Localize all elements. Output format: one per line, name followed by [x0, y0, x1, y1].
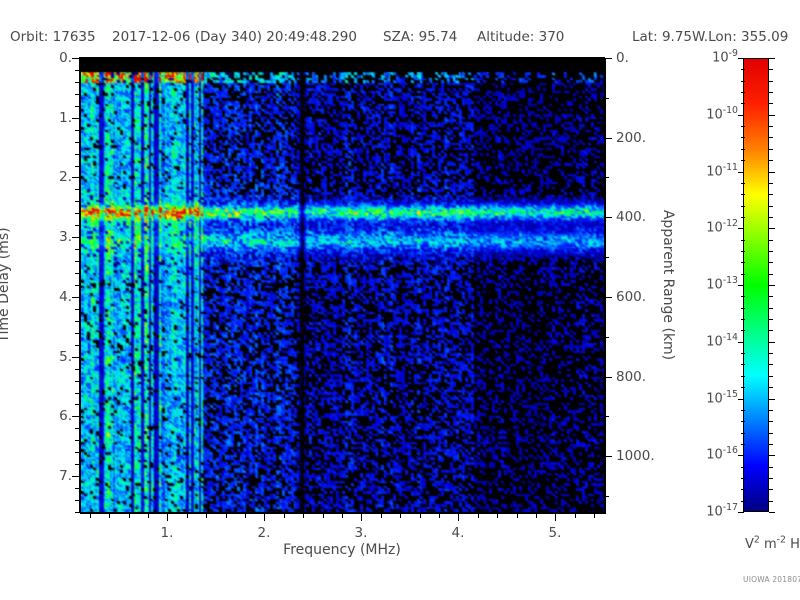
x-major-tick-3: [458, 513, 459, 521]
colorbar-tick-exponent-3: -12: [723, 218, 738, 229]
colorbar-minor-tick-17-1: [769, 251, 773, 252]
y-minor-tick-24: [75, 345, 80, 346]
y-minor-tick-34: [75, 464, 80, 465]
y-major-tick-4: [72, 297, 80, 298]
header-field-value-4: 9.75: [662, 29, 692, 45]
y-major-tick-6: [72, 416, 80, 417]
x-major-tick-2: [361, 513, 362, 521]
y2-minor-tick-1: [604, 98, 609, 99]
watermark-label: UIOWA 20180701: [743, 575, 800, 584]
colorbar-minor-tick-28-1: [769, 376, 773, 377]
x-major-tick-1: [264, 513, 265, 521]
header-field-3: Altitude: 370: [477, 29, 564, 45]
y2-major-tick-3: [604, 297, 612, 298]
y-tick-label-0: 0.: [20, 50, 72, 66]
y2-major-tick-1: [604, 138, 612, 139]
colorbar-tick-label-6: 10-15: [706, 392, 738, 407]
y-major-tick-5: [72, 357, 80, 358]
y-minor-tick-36: [75, 488, 80, 489]
y-minor-tick-27: [75, 381, 80, 382]
header-field-label-0: Orbit:: [10, 29, 48, 45]
x-tick-label-2: 3.: [355, 525, 368, 541]
y-major-tick-7: [72, 476, 80, 477]
colorbar-minor-tick-19-1: [769, 274, 773, 275]
colorbar-minor-tick-27-0: [741, 364, 745, 365]
colorbar-tick-exponent-7: -16: [723, 445, 738, 456]
colorbar-major-tick-0-0: [738, 58, 744, 59]
colorbar-minor-tick-38-0: [741, 489, 745, 490]
y-minor-tick-18: [75, 273, 80, 274]
colorbar-minor-tick-37-0: [741, 478, 745, 479]
colorbar-minor-tick-2-0: [741, 81, 745, 82]
x-minor-tick-7: [109, 513, 110, 518]
colorbar-minor-tick-21-0: [741, 296, 745, 297]
header-field-label-3: Altitude:: [477, 29, 534, 45]
colorbar-minor-tick-26-0: [741, 353, 745, 354]
colorbar-minor-tick-22-1: [769, 308, 773, 309]
colorbar-minor-tick-31-1: [769, 410, 773, 411]
x-axis-title: Frequency (MHz): [283, 542, 401, 558]
colorbar-unit-volts: V: [745, 537, 754, 552]
colorbar-minor-tick-18-0: [741, 262, 745, 263]
y-major-tick-2: [72, 177, 80, 178]
colorbar-minor-tick-29-0: [741, 387, 745, 388]
colorbar-minor-tick-34-0: [741, 444, 745, 445]
y-minor-tick-3: [75, 94, 80, 95]
header-field-value-3: 370: [539, 29, 565, 45]
colorbar-minor-tick-23-1: [769, 319, 773, 320]
colorbar-minor-tick-28-0: [741, 376, 745, 377]
colorbar-unit-meters: m: [764, 537, 777, 552]
x-minor-tick-18: [323, 513, 324, 518]
y2-minor-tick-11: [604, 496, 609, 497]
x-minor-tick-27: [497, 513, 498, 518]
colorbar-major-tick-8-0: [738, 512, 744, 513]
y-minor-tick-29: [75, 404, 80, 405]
x-minor-tick-16: [284, 513, 285, 518]
colorbar-minor-tick-39-1: [769, 501, 773, 502]
colorbar-minor-tick-1-0: [741, 69, 745, 70]
x-tick-label-0: 1.: [161, 525, 174, 541]
colorbar-minor-tick-13-0: [741, 206, 745, 207]
colorbar-major-tick-4-1: [769, 285, 775, 286]
colorbar-major-tick-3-0: [738, 228, 744, 229]
colorbar-minor-tick-8-0: [741, 149, 745, 150]
colorbar-major-tick-1-1: [769, 115, 775, 116]
colorbar-minor-tick-11-0: [741, 183, 745, 184]
header-field-value-2: 95.74: [419, 29, 458, 45]
colorbar-major-tick-2-1: [769, 172, 775, 173]
y-minor-tick-13: [75, 213, 80, 214]
colorbar-major-tick-3-1: [769, 228, 775, 229]
colorbar-tick-mantissa-1: 10: [706, 108, 723, 123]
y2-tick-label-0: 0.: [616, 50, 629, 66]
x-minor-tick-32: [594, 513, 595, 518]
x-tick-label-3: 4.: [452, 525, 465, 541]
colorbar-tick-mantissa-5: 10: [706, 335, 723, 350]
x-minor-tick-12: [206, 513, 207, 518]
colorbar-minor-tick-16-0: [741, 240, 745, 241]
colorbar-tick-label-7: 10-16: [706, 448, 738, 463]
y2-major-tick-4: [604, 377, 612, 378]
header-field-value-5: 355.09: [741, 29, 788, 45]
y-tick-label-4: 4.: [20, 289, 72, 305]
colorbar-minor-tick-23-0: [741, 319, 745, 320]
y-tick-label-7: 7.: [20, 468, 72, 484]
header-field-label-4: Lat:: [632, 29, 658, 45]
y-minor-tick-4: [75, 106, 80, 107]
colorbar-minor-tick-29-1: [769, 387, 773, 388]
y-minor-tick-12: [75, 201, 80, 202]
colorbar-tick-label-3: 10-12: [706, 221, 738, 236]
x-minor-tick-11: [187, 513, 188, 518]
y2-tick-label-2: 400.: [616, 209, 646, 225]
colorbar-tick-exponent-2: -11: [723, 162, 738, 173]
colorbar-major-tick-7-0: [738, 455, 744, 456]
colorbar-minor-tick-12-1: [769, 194, 773, 195]
x-minor-tick-13: [226, 513, 227, 518]
y2-tick-label-1: 200.: [616, 130, 646, 146]
colorbar-minor-tick-4-0: [741, 103, 745, 104]
header-field-1: 2017-12-06 (Day 340) 20:49:48.290: [112, 29, 357, 45]
x-minor-tick-17: [303, 513, 304, 518]
plot-border-top: [79, 57, 605, 58]
colorbar-tick-exponent-5: -14: [723, 332, 738, 343]
header-field-0: Orbit: 17635: [10, 29, 96, 45]
x-minor-tick-31: [575, 513, 576, 518]
y-tick-label-2: 2.: [20, 169, 72, 185]
colorbar-minor-tick-12-0: [741, 194, 745, 195]
colorbar-minor-tick-6-1: [769, 126, 773, 127]
plot-canvas: Orbit: 176352017-12-06 (Day 340) 20:49:4…: [0, 0, 800, 600]
x-minor-tick-24: [439, 513, 440, 518]
colorbar-tick-mantissa-8: 10: [706, 505, 723, 520]
y-minor-tick-38: [75, 512, 80, 513]
colorbar-tick-mantissa-7: 10: [706, 448, 723, 463]
colorbar-minor-tick-18-1: [769, 262, 773, 263]
colorbar-tick-mantissa-0: 10: [712, 51, 729, 66]
colorbar-minor-tick-22-0: [741, 308, 745, 309]
colorbar-major-tick-5-0: [738, 342, 744, 343]
colorbar-minor-tick-8-1: [769, 149, 773, 150]
plot-border-right: [604, 57, 605, 513]
colorbar-minor-tick-14-1: [769, 217, 773, 218]
colorbar-unit-volts-exponent: 2: [754, 535, 760, 546]
y-minor-tick-19: [75, 285, 80, 286]
colorbar-tick-mantissa-2: 10: [706, 165, 723, 180]
colorbar-tick-mantissa-3: 10: [706, 221, 723, 236]
colorbar-tick-label-8: 10-17: [706, 505, 738, 520]
colorbar-tick-exponent-6: -15: [723, 389, 738, 400]
colorbar-minor-tick-31-0: [741, 410, 745, 411]
y2-major-tick-5: [604, 456, 612, 457]
colorbar-minor-tick-14-0: [741, 217, 745, 218]
x-minor-tick-6: [90, 513, 91, 518]
y-minor-tick-6: [75, 130, 80, 131]
y2-minor-tick-3: [604, 177, 609, 178]
colorbar-tick-exponent-4: -13: [723, 275, 738, 286]
y-minor-tick-17: [75, 261, 80, 262]
y-minor-tick-9: [75, 166, 80, 167]
y-tick-label-3: 3.: [20, 229, 72, 245]
colorbar-minor-tick-24-0: [741, 330, 745, 331]
y-axis-title: Time Delay (ms): [0, 227, 12, 342]
colorbar-major-tick-4-0: [738, 285, 744, 286]
colorbar-minor-tick-39-0: [741, 501, 745, 502]
colorbar-minor-tick-33-0: [741, 433, 745, 434]
colorbar-minor-tick-13-1: [769, 206, 773, 207]
radargram-heatmap: [81, 59, 605, 513]
x-minor-tick-9: [148, 513, 149, 518]
colorbar-tick-exponent-8: -17: [723, 502, 738, 513]
x-minor-tick-8: [129, 513, 130, 518]
colorbar-minor-tick-9-0: [741, 160, 745, 161]
colorbar-tick-label-4: 10-13: [706, 278, 738, 293]
y-major-tick-0: [72, 58, 80, 59]
colorbar-gradient: [743, 58, 769, 512]
colorbar-minor-tick-2-1: [769, 81, 773, 82]
y-minor-tick-22: [75, 321, 80, 322]
y-minor-tick-1: [75, 70, 80, 71]
y-minor-tick-2: [75, 82, 80, 83]
colorbar-major-tick-7-1: [769, 455, 775, 456]
x-minor-tick-22: [400, 513, 401, 518]
colorbar-minor-tick-32-0: [741, 421, 745, 422]
y-minor-tick-21: [75, 309, 80, 310]
y2-tick-label-5: 1000.: [616, 448, 655, 464]
colorbar-major-tick-6-0: [738, 399, 744, 400]
colorbar-container: [743, 58, 769, 512]
y-minor-tick-23: [75, 333, 80, 334]
colorbar-tick-exponent-1: -10: [723, 105, 738, 116]
colorbar-minor-tick-36-1: [769, 467, 773, 468]
y-minor-tick-28: [75, 393, 80, 394]
colorbar-minor-tick-4-1: [769, 103, 773, 104]
header-field-label-5: W.Lon:: [692, 29, 737, 45]
colorbar-minor-tick-11-1: [769, 183, 773, 184]
y-minor-tick-14: [75, 225, 80, 226]
y2-minor-tick-5: [604, 257, 609, 258]
y-tick-label-1: 1.: [20, 110, 72, 126]
x-tick-label-4: 5.: [549, 525, 562, 541]
colorbar-major-tick-6-1: [769, 399, 775, 400]
colorbar-minor-tick-27-1: [769, 364, 773, 365]
header-field-5: W.Lon: 355.09: [692, 29, 788, 45]
x-minor-tick-14: [245, 513, 246, 518]
spectrogram-plot-area: [80, 58, 606, 514]
colorbar-tick-mantissa-4: 10: [706, 278, 723, 293]
y-minor-tick-16: [75, 249, 80, 250]
colorbar-unit-meters-exponent: -2: [777, 535, 786, 546]
colorbar-tick-mantissa-6: 10: [706, 392, 723, 407]
y-minor-tick-33: [75, 452, 80, 453]
y-minor-tick-11: [75, 189, 80, 190]
colorbar-minor-tick-36-0: [741, 467, 745, 468]
x-minor-tick-21: [381, 513, 382, 518]
header-field-label-2: SZA:: [383, 29, 414, 45]
y2-minor-tick-9: [604, 416, 609, 417]
y-minor-tick-31: [75, 428, 80, 429]
y-minor-tick-7: [75, 142, 80, 143]
x-minor-tick-23: [420, 513, 421, 518]
colorbar-minor-tick-7-0: [741, 137, 745, 138]
y-minor-tick-32: [75, 440, 80, 441]
y-minor-tick-8: [75, 154, 80, 155]
colorbar-minor-tick-34-1: [769, 444, 773, 445]
colorbar-major-tick-0-1: [769, 58, 775, 59]
colorbar-tick-label-0: 10-9: [712, 51, 738, 66]
header-field-4: Lat: 9.75: [632, 29, 692, 45]
colorbar-minor-tick-6-0: [741, 126, 745, 127]
colorbar-minor-tick-9-1: [769, 160, 773, 161]
colorbar-minor-tick-1-1: [769, 69, 773, 70]
colorbar-unit-hertz: Hz: [790, 537, 800, 552]
x-minor-tick-26: [478, 513, 479, 518]
colorbar-tick-label-2: 10-11: [706, 165, 738, 180]
colorbar-major-tick-1-0: [738, 115, 744, 116]
x-minor-tick-19: [342, 513, 343, 518]
x-major-tick-0: [167, 513, 168, 521]
colorbar-minor-tick-38-1: [769, 489, 773, 490]
colorbar-major-tick-2-0: [738, 172, 744, 173]
y-major-tick-1: [72, 118, 80, 119]
colorbar-minor-tick-32-1: [769, 421, 773, 422]
colorbar-tick-label-5: 10-14: [706, 335, 738, 350]
y-minor-tick-26: [75, 369, 80, 370]
x-tick-label-1: 2.: [258, 525, 271, 541]
y2-minor-tick-7: [604, 337, 609, 338]
colorbar-minor-tick-3-1: [769, 92, 773, 93]
y2-tick-label-4: 800.: [616, 369, 646, 385]
header-metadata-bar: Orbit: 176352017-12-06 (Day 340) 20:49:4…: [0, 29, 800, 49]
colorbar-minor-tick-19-0: [741, 274, 745, 275]
colorbar-minor-tick-7-1: [769, 137, 773, 138]
colorbar-major-tick-8-1: [769, 512, 775, 513]
colorbar-minor-tick-24-1: [769, 330, 773, 331]
y2-tick-label-3: 600.: [616, 289, 646, 305]
y-minor-tick-37: [75, 500, 80, 501]
header-field-2: SZA: 95.74: [383, 29, 457, 45]
colorbar-major-tick-5-1: [769, 342, 775, 343]
colorbar-minor-tick-17-0: [741, 251, 745, 252]
y2-major-tick-0: [604, 58, 612, 59]
x-minor-tick-28: [517, 513, 518, 518]
colorbar-minor-tick-33-1: [769, 433, 773, 434]
colorbar-minor-tick-3-0: [741, 92, 745, 93]
x-minor-tick-29: [536, 513, 537, 518]
x-major-tick-4: [555, 513, 556, 521]
y-tick-label-6: 6.: [20, 408, 72, 424]
colorbar-tick-exponent-0: -9: [729, 48, 738, 59]
colorbar-minor-tick-16-1: [769, 240, 773, 241]
colorbar-tick-label-1: 10-10: [706, 108, 738, 123]
y2-major-tick-2: [604, 217, 612, 218]
colorbar-minor-tick-37-1: [769, 478, 773, 479]
y-major-tick-3: [72, 237, 80, 238]
colorbar-minor-tick-21-1: [769, 296, 773, 297]
y2-axis-title: Apparent Range (km): [660, 210, 676, 360]
colorbar-minor-tick-26-1: [769, 353, 773, 354]
colorbar-unit-label: V2 m-2 Hz-1: [745, 537, 800, 552]
y-tick-label-5: 5.: [20, 349, 72, 365]
header-field-value-0: 17635: [53, 29, 96, 45]
header-field-value-1: 2017-12-06 (Day 340) 20:49:48.290: [112, 29, 357, 45]
